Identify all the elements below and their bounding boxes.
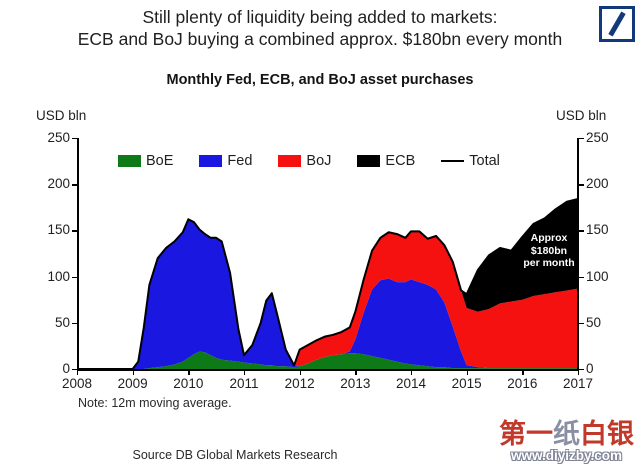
- y-axis-left-line: [77, 138, 79, 370]
- y-tick-mark-right-0: [579, 369, 584, 370]
- x-tick-mark-2015: [467, 370, 468, 375]
- legend-item-total[interactable]: Total: [441, 153, 500, 169]
- x-tick-mark-2010: [188, 370, 189, 375]
- logo-slash: [608, 11, 625, 36]
- y-tick-mark-left-50: [72, 323, 77, 324]
- site-watermark: 第一纸白银 www.diyizby.com: [499, 421, 634, 463]
- legend-label-fed: Fed: [227, 153, 252, 169]
- chart-legend: BoEFedBoJECBTotal: [118, 153, 500, 169]
- x-tick-mark-2014: [411, 370, 412, 375]
- watermark-cn-part-2: 纸: [553, 419, 580, 449]
- right-axis-unit-label: USD bln: [556, 108, 606, 123]
- x-tick-2008: 2008: [47, 377, 107, 391]
- y-tick-mark-left-150: [72, 230, 77, 231]
- legend-item-boj[interactable]: BoJ: [278, 153, 331, 169]
- watermark-chinese-text: 第一纸白银: [499, 421, 634, 448]
- y-tick-right-200: 200: [586, 177, 636, 191]
- y-tick-mark-left-100: [72, 277, 77, 278]
- x-tick-2011: 2011: [214, 377, 274, 391]
- y-tick-left-150: 150: [10, 223, 70, 237]
- x-tick-2013: 2013: [325, 377, 385, 391]
- chart-title: Monthly Fed, ECB, and BoJ asset purchase…: [0, 72, 640, 88]
- x-tick-mark-2012: [300, 370, 301, 375]
- header: Still plenty of liquidity being added to…: [0, 6, 640, 50]
- legend-line-icon-total: [441, 160, 464, 162]
- legend-swatch-icon-boe: [118, 155, 141, 167]
- legend-swatch-icon-fed: [199, 155, 222, 167]
- legend-item-ecb[interactable]: ECB: [357, 153, 415, 169]
- x-tick-mark-2017: [578, 370, 579, 375]
- y-tick-left-0: 0: [10, 362, 70, 376]
- legend-item-fed[interactable]: Fed: [199, 153, 252, 169]
- watermark-cn-part-3: 白银: [580, 419, 634, 449]
- y-tick-mark-right-100: [579, 277, 584, 278]
- x-tick-mark-2008: [77, 370, 78, 375]
- x-tick-2016: 2016: [492, 377, 552, 391]
- y-tick-right-150: 150: [586, 223, 636, 237]
- y-tick-mark-right-50: [579, 323, 584, 324]
- y-tick-mark-left-250: [72, 138, 77, 139]
- headline-line-1: Still plenty of liquidity being added to…: [0, 6, 640, 28]
- headline-line-2: ECB and BoJ buying a combined approx. $1…: [0, 28, 640, 50]
- y-tick-left-200: 200: [10, 177, 70, 191]
- x-tick-mark-2011: [244, 370, 245, 375]
- y-tick-mark-left-200: [72, 184, 77, 185]
- legend-swatch-icon-boj: [278, 155, 301, 167]
- legend-label-boj: BoJ: [306, 153, 331, 169]
- y-tick-right-250: 250: [586, 131, 636, 145]
- x-tick-mark-2013: [355, 370, 356, 375]
- y-tick-mark-right-150: [579, 230, 584, 231]
- y-tick-left-250: 250: [10, 131, 70, 145]
- x-tick-2014: 2014: [381, 377, 441, 391]
- y-tick-right-100: 100: [586, 270, 636, 284]
- legend-item-boe[interactable]: BoE: [118, 153, 173, 169]
- x-axis-line: [77, 369, 579, 371]
- x-tick-mark-2016: [522, 370, 523, 375]
- legend-label-total: Total: [469, 153, 500, 169]
- y-tick-left-100: 100: [10, 270, 70, 284]
- x-tick-2015: 2015: [437, 377, 497, 391]
- legend-label-ecb: ECB: [385, 153, 415, 169]
- watermark-cn-part-1: 第一: [499, 419, 553, 449]
- x-tick-2012: 2012: [270, 377, 330, 391]
- area-series-group: [77, 199, 578, 369]
- chart-note: Note: 12m moving average.: [78, 396, 232, 410]
- y-tick-right-0: 0: [586, 362, 636, 376]
- chart-plot-area: [77, 138, 578, 369]
- y-tick-left-50: 50: [10, 316, 70, 330]
- y-tick-right-50: 50: [586, 316, 636, 330]
- legend-swatch-icon-ecb: [357, 155, 380, 167]
- stacked-area-chart: [77, 138, 578, 369]
- x-tick-2010: 2010: [158, 377, 218, 391]
- x-tick-2009: 2009: [103, 377, 163, 391]
- deutsche-bank-logo-icon: [599, 6, 635, 42]
- y-tick-mark-right-200: [579, 184, 584, 185]
- left-axis-unit-label: USD bln: [36, 108, 86, 123]
- chart-source: Source DB Global Markets Research: [0, 448, 470, 462]
- x-tick-mark-2009: [133, 370, 134, 375]
- legend-label-boe: BoE: [146, 153, 173, 169]
- y-axis-right-line: [577, 138, 579, 370]
- y-tick-mark-right-250: [579, 138, 584, 139]
- x-tick-2017: 2017: [548, 377, 608, 391]
- watermark-url: www.diyizby.com: [499, 449, 634, 463]
